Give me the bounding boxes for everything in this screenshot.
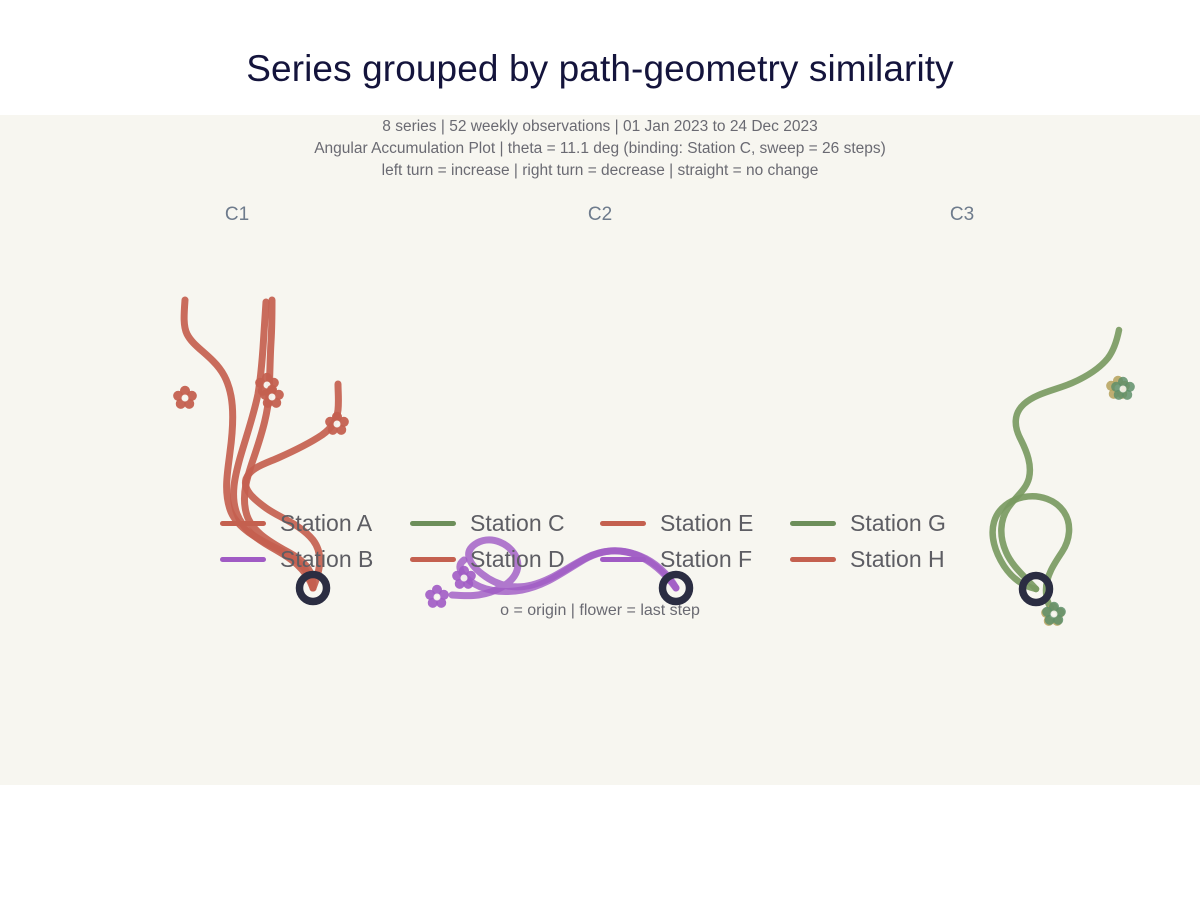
- marker-footnote: o = origin | flower = last step: [0, 602, 1200, 620]
- legend-label-station-a: Station A: [280, 510, 372, 537]
- legend-swatch-station-h: [790, 557, 836, 562]
- legend-item-station-f[interactable]: Station F: [600, 546, 790, 573]
- legend-swatch-station-a: [220, 521, 266, 526]
- legend-item-station-a[interactable]: Station A: [220, 510, 410, 537]
- legend-swatch-station-f: [600, 557, 646, 562]
- legend-item-station-h[interactable]: Station H: [790, 546, 980, 573]
- legend-label-station-h: Station H: [850, 546, 945, 573]
- legend-swatch-station-c: [410, 521, 456, 526]
- legend-label-station-d: Station D: [470, 546, 565, 573]
- flower-marker-station-h: [325, 412, 349, 435]
- legend-label-station-g: Station G: [850, 510, 946, 537]
- legend-item-station-c[interactable]: Station C: [410, 510, 600, 537]
- legend-item-station-d[interactable]: Station D: [410, 546, 600, 573]
- flower-marker-station-a: [173, 386, 197, 409]
- legend-label-station-e: Station E: [660, 510, 753, 537]
- legend-label-station-f: Station F: [660, 546, 752, 573]
- legend-item-station-g[interactable]: Station G: [790, 510, 980, 537]
- legend-swatch-station-g: [790, 521, 836, 526]
- legend-row-1: Station A Station C Station E Station G: [220, 510, 980, 537]
- legend-label-station-c: Station C: [470, 510, 565, 537]
- legend-swatch-station-e: [600, 521, 646, 526]
- legend-item-station-b[interactable]: Station B: [220, 546, 410, 573]
- legend-label-station-b: Station B: [280, 546, 373, 573]
- legend-swatch-station-d: [410, 557, 456, 562]
- legend-row-2: Station B Station D Station F Station H: [220, 546, 980, 573]
- legend-swatch-station-b: [220, 557, 266, 562]
- panel-c3-markers: [1023, 376, 1135, 626]
- legend-item-station-e[interactable]: Station E: [600, 510, 790, 537]
- legend: Station A Station C Station E Station G …: [0, 510, 1200, 573]
